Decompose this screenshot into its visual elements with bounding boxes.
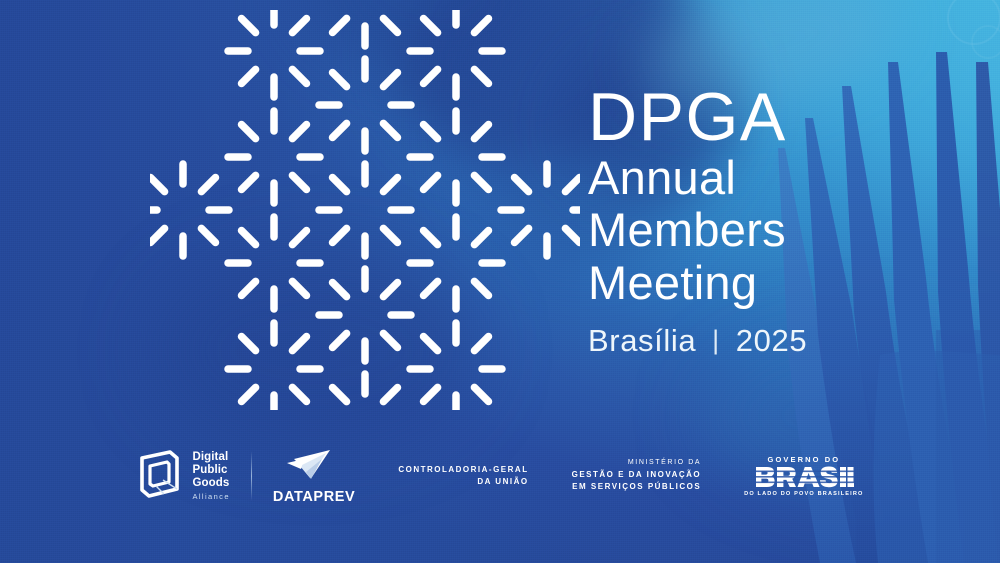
title-line-annual: Annual	[588, 153, 918, 204]
logo-divider	[251, 451, 252, 501]
poster-canvas: DPGA Annual Members Meeting Brasília | 2…	[0, 0, 1000, 563]
dataprev-wing-icon	[286, 447, 342, 486]
dpga-word-goods: Goods	[192, 477, 229, 490]
brasil-bottom-label: DO LADO DO POVO BRASILEIRO	[744, 491, 863, 497]
title-block: DPGA Annual Members Meeting Brasília | 2…	[588, 84, 918, 359]
subtitle-year: 2025	[736, 323, 807, 359]
dpga-square-icon	[136, 449, 182, 504]
dpga-word-alliance: Alliance	[192, 493, 229, 502]
subtitle-place: Brasília	[588, 323, 696, 359]
dpga-word-digital: Digital	[192, 451, 229, 464]
partner-logo-bar: Digital Public Goods Alliance	[0, 447, 1000, 505]
mgi-line-3: EM SERVIÇOS PÚBLICOS	[572, 481, 702, 493]
mgi-line-2: GESTÃO E DA INOVAÇÃO	[572, 469, 702, 481]
dpga-word-public: Public	[192, 464, 229, 477]
hexagonal-burst-pattern	[150, 10, 580, 410]
brasil-wordmark-icon	[754, 465, 854, 489]
logo-governo-do-brasil: GOVERNO DO	[744, 455, 863, 497]
page-title: DPGA	[588, 84, 918, 151]
dataprev-wordmark: DATAPREV	[273, 489, 355, 505]
subtitle: Brasília | 2025	[588, 323, 918, 359]
logo-mgi: MINISTÉRIO DA GESTÃO E DA INOVAÇÃO EM SE…	[572, 458, 702, 494]
mgi-line-1: MINISTÉRIO DA	[572, 458, 702, 469]
cgu-line-2: DA UNIÃO	[398, 476, 528, 488]
dpga-wordmark: Digital Public Goods Alliance	[192, 451, 229, 502]
title-line-meeting: Meeting	[588, 258, 918, 309]
logo-cgu: CONTROLADORIA-GERAL DA UNIÃO	[398, 464, 528, 489]
cgu-line-1: CONTROLADORIA-GERAL	[398, 464, 528, 476]
title-line-members: Members	[588, 205, 918, 256]
logo-dpga: Digital Public Goods Alliance	[136, 449, 229, 504]
brasil-top-label: GOVERNO DO	[768, 455, 841, 464]
subtitle-separator: |	[712, 325, 720, 356]
logo-dataprev: DATAPREV	[273, 447, 355, 505]
